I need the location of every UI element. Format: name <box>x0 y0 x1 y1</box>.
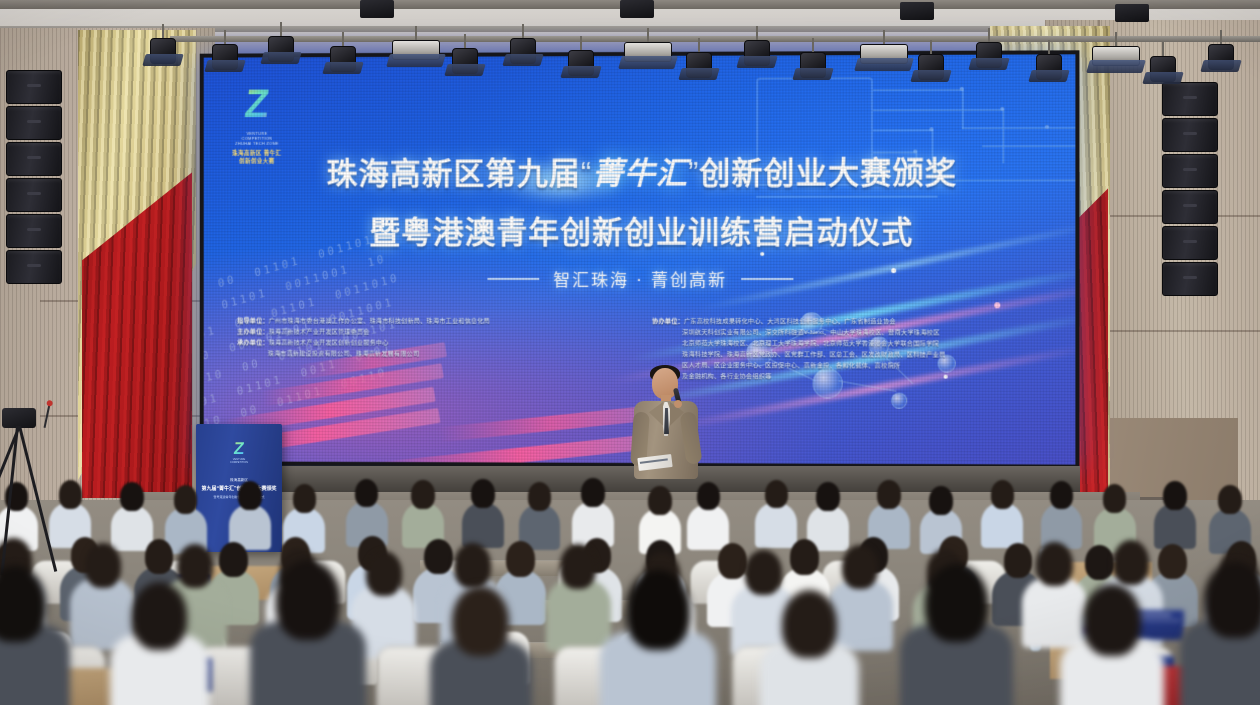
audience-head <box>581 478 604 507</box>
credit-text: 广州市珠海市委台港澳工作办公室、珠海市科技创新局、珠海市工业和信息化局 <box>269 318 490 325</box>
audience-head <box>238 481 261 510</box>
ceiling-hoist-3 <box>900 2 934 20</box>
audience-head <box>471 479 494 508</box>
audience-head <box>355 479 378 508</box>
line-array-speaker-left <box>6 70 62 286</box>
credit-row: 及金融机构、各行业协会组织等 <box>652 371 1049 383</box>
spot-stage-light <box>150 38 176 64</box>
subtitle-rule-right <box>741 278 793 280</box>
event-subtitle-row: 智汇珠海 · 菁创高新 <box>204 266 1080 291</box>
spot-stage-light <box>686 52 712 78</box>
audience-head <box>816 482 839 511</box>
credit-label: 承办单位： <box>237 339 268 346</box>
credit-text: 珠海科技学院、珠海高新区党政办、区党群工作部、区总工会、区发改财政局、区科技产业… <box>682 351 946 358</box>
logo-english-line2: ZHUHAI TECH ZONE <box>231 141 282 146</box>
audience-head <box>174 485 197 514</box>
credit-row: 指导单位：广州市珠海市委台港澳工作办公室、珠海市科技创新局、珠海市工业和信息化局 <box>237 316 628 327</box>
credit-row: 区人才局、区企业服务中心、区投促中心、高新金投、各孵化载体、高校院所 <box>652 360 1049 372</box>
audience-head <box>411 480 434 509</box>
spot-stage-light <box>510 38 536 64</box>
audience-head <box>120 482 143 511</box>
title-suffix: 创新创业大赛颁奖 <box>699 155 957 191</box>
audience-foreground-silhouettes <box>0 560 1260 705</box>
credit-text: 珠海高新技术产业开发区创新创业服务中心 <box>269 339 389 346</box>
event-title-line1: 珠海高新区第九届“菁牛汇”创新创业大赛颁奖 <box>204 147 1080 193</box>
spot-stage-light <box>1036 54 1062 80</box>
audience-head <box>1103 484 1126 513</box>
ceiling-hoist-4 <box>1115 4 1149 22</box>
line-array-speaker-right <box>1162 82 1218 298</box>
conference-photo-scene: 0101 00 01101 00110101 1010 01101 001100… <box>0 0 1260 705</box>
spot-stage-light <box>330 46 356 72</box>
spot-stage-light <box>568 50 594 76</box>
credit-text: 珠海市高新建设投资有限公司、珠海高新发展有限公司 <box>268 350 420 357</box>
audience-head <box>528 482 551 511</box>
audience-head <box>991 480 1014 509</box>
audience-head <box>452 586 509 656</box>
spot-stage-light <box>1208 44 1234 70</box>
title-prefix: 珠海高新区第九届 <box>327 156 581 191</box>
spot-stage-light <box>1150 56 1176 82</box>
audience-head <box>925 564 988 642</box>
fresnel-stage-light <box>860 44 908 64</box>
event-subtitle: 智汇珠海 · 菁创高新 <box>553 266 727 291</box>
credit-text: 区人才局、区企业服务中心、区投促中心、高新金投、各孵化载体、高校院所 <box>682 362 900 369</box>
audience-head <box>782 590 837 658</box>
screen-title-block: 珠海高新区第九届“菁牛汇”创新创业大赛颁奖 暨粤港澳青年创新创业训练营启动仪式 … <box>204 147 1080 291</box>
credits-column-right: 协办单位：广东高校科技成果转化中心、大湾区科技创新服务中心、广东省制造业协会深圳… <box>652 316 1049 383</box>
spot-stage-light <box>800 52 826 78</box>
speaker-hand <box>674 400 682 408</box>
credit-row: 协办单位：广东高校科技成果转化中心、大湾区科技创新服务中心、广东省制造业协会 <box>652 316 1049 328</box>
audience-head <box>626 570 691 650</box>
audience-head <box>1050 481 1073 510</box>
credit-row: 珠海科技学院、珠海高新区党政办、区党群工作部、区总工会、区发改财政局、区科技产业… <box>652 349 1049 361</box>
credit-row: 主办单位：珠海高新技术产业开发区管理委员会 <box>237 326 628 337</box>
audience-head <box>765 480 788 509</box>
spot-stage-light <box>452 48 478 74</box>
audience-head <box>697 482 720 511</box>
subtitle-rule-left <box>487 277 539 279</box>
audience-head <box>648 486 671 515</box>
credit-text: 深圳航天科创实业有限公司、深交所科融通V-Next、中山大学珠海校区、暨南大学珠… <box>682 329 940 336</box>
ceiling-hoist-2 <box>620 0 654 18</box>
audience-head <box>132 582 187 650</box>
audience-head <box>1218 485 1241 514</box>
audience-head <box>1083 584 1141 656</box>
spot-stage-light <box>918 54 944 80</box>
spot-stage-light <box>268 36 294 62</box>
audience-head <box>0 566 46 642</box>
audience-head <box>1204 562 1260 638</box>
credit-label: 指导单位： <box>237 318 268 325</box>
ceiling-hoist-1 <box>360 0 394 18</box>
spot-stage-light <box>212 44 238 70</box>
event-logo: Z VENTURE COMPETITION ZHUHAI TECH ZONE 珠… <box>231 81 282 155</box>
logo-english-line1: VENTURE COMPETITION <box>231 131 282 141</box>
audience-head <box>276 560 341 640</box>
credit-text: 北京师范大学珠海校区、北京理工大学珠海学院、北京师范大学香港浸会大学联合国际学院 <box>682 340 939 347</box>
audience-head <box>293 484 316 513</box>
credit-text: 广东高校科技成果转化中心、大湾区科技创新服务中心、广东省制造业协会 <box>684 318 896 325</box>
lighting-truss <box>170 36 1260 42</box>
fresnel-stage-light <box>1092 46 1140 66</box>
logo-z-mark: Z <box>232 81 282 129</box>
credit-row: 珠海市高新建设投资有限公司、珠海高新发展有限公司 <box>237 348 628 360</box>
credit-label: 协办单位： <box>652 318 684 325</box>
credit-label: 主办单位： <box>237 328 268 335</box>
audience-head <box>877 480 900 509</box>
audience-head <box>1163 481 1186 510</box>
title-quote-open: “ <box>581 156 592 191</box>
audience-head <box>929 486 952 515</box>
credit-row: 承办单位：珠海高新技术产业开发区创新创业服务中心 <box>237 337 628 349</box>
fresnel-stage-light <box>624 42 672 62</box>
credit-row: 深圳航天科创实业有限公司、深交所科融通V-Next、中山大学珠海校区、暨南大学珠… <box>652 327 1049 339</box>
credit-text: 珠海高新技术产业开发区管理委员会 <box>269 329 370 336</box>
spot-stage-light <box>744 40 770 66</box>
title-quote-close: ” <box>688 156 699 191</box>
title-calligraphy: 菁牛汇 <box>592 156 688 192</box>
fresnel-stage-light <box>392 40 440 60</box>
spot-stage-light <box>976 42 1002 68</box>
credits-column-left: 指导单位：广州市珠海市委台港澳工作办公室、珠海市科技创新局、珠海市工业和信息化局… <box>237 316 628 382</box>
credit-row: 北京师范大学珠海校区、北京理工大学珠海学院、北京师范大学香港浸会大学联合国际学院 <box>652 338 1049 350</box>
event-title-line2: 暨粤港澳青年创新创业训练营启动仪式 <box>204 207 1080 252</box>
